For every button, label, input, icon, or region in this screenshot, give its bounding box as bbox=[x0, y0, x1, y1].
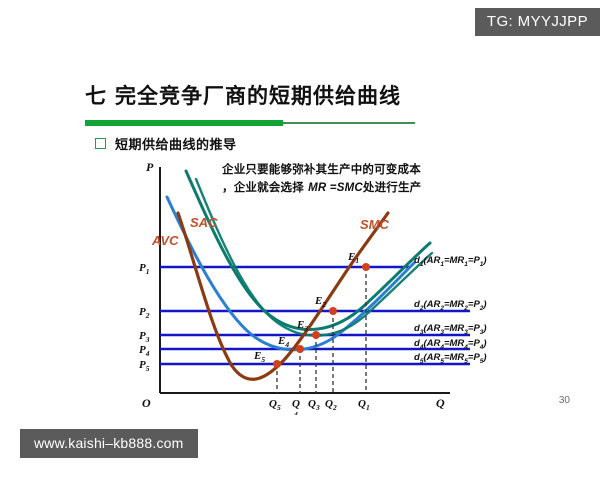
bullet-item: 短期供给曲线的推导 bbox=[95, 134, 237, 153]
title-text: 完全竞争厂商的短期供给曲线 bbox=[115, 83, 401, 108]
note-line-2-prefix: ，企业就会选择 bbox=[222, 180, 308, 194]
bullet-label: 短期供给曲线的推导 bbox=[115, 134, 237, 153]
title-underline-thin bbox=[283, 122, 415, 124]
label-E4: E4 bbox=[277, 335, 289, 349]
x-tick-Q5: Q5 bbox=[269, 398, 281, 412]
telegram-watermark: TG: MYYJJPP bbox=[475, 8, 600, 36]
x-tick-Q3: Q3 bbox=[308, 398, 320, 412]
note-line-2-italic: MR =SMC bbox=[308, 182, 363, 194]
section-number: 七 bbox=[85, 83, 107, 108]
x-tick-Q1: Q1 bbox=[358, 398, 370, 412]
note-line-2: ，企业就会选择 MR =SMC处进行生产 bbox=[222, 179, 512, 198]
point-E4 bbox=[296, 345, 304, 353]
label-E3: E3 bbox=[296, 319, 308, 333]
x-axis-label: Q bbox=[436, 396, 445, 410]
point-E5 bbox=[273, 360, 281, 368]
origin-label: O bbox=[142, 396, 151, 410]
smc-curve bbox=[178, 213, 388, 379]
y-tick-P5: P5 bbox=[139, 359, 150, 373]
title-underline-thick bbox=[85, 120, 283, 126]
slide-number: 30 bbox=[559, 395, 570, 406]
smc-curve-label: SMC bbox=[360, 217, 390, 232]
avc-curve-label: AVC bbox=[151, 233, 179, 248]
y-tick-P3: P3 bbox=[139, 330, 150, 344]
label-E5: E5 bbox=[253, 350, 265, 364]
x-tick-Q4-subscript: 4 bbox=[293, 410, 298, 415]
square-bullet-icon bbox=[95, 138, 106, 149]
point-E1 bbox=[362, 263, 370, 271]
y-axis-label: P bbox=[146, 160, 154, 174]
sac-curve-label: SAC bbox=[190, 215, 218, 230]
title-underline bbox=[85, 120, 415, 126]
label-d1: d1(AR1=MR1=P1) bbox=[414, 255, 487, 268]
note-line-1: 企业只要能够弥补其生产中的可变成本 bbox=[222, 161, 512, 179]
page-title: 七完全竞争厂商的短期供给曲线 bbox=[85, 80, 401, 110]
chart-area: 企业只要能够弥补其生产中的可变成本 ，企业就会选择 MR =SMC处进行生产 3… bbox=[0, 155, 600, 415]
annotation-note: 企业只要能够弥补其生产中的可变成本 ，企业就会选择 MR =SMC处进行生产 bbox=[222, 161, 512, 198]
x-tick-Q4: Q bbox=[292, 398, 300, 410]
y-tick-P2: P2 bbox=[139, 306, 150, 320]
point-E3 bbox=[312, 331, 320, 339]
point-E2 bbox=[329, 307, 337, 315]
y-tick-P1: P1 bbox=[139, 262, 149, 276]
slide: TG: MYYJJPP www.kaishi–kb888.com 七完全竞争厂商… bbox=[0, 0, 600, 480]
y-tick-P4: P4 bbox=[139, 344, 150, 358]
note-line-2-suffix: 处进行生产 bbox=[363, 180, 422, 194]
x-tick-Q2: Q2 bbox=[325, 398, 337, 412]
site-watermark: www.kaishi–kb888.com bbox=[20, 429, 198, 458]
label-E2: E2 bbox=[314, 295, 326, 309]
